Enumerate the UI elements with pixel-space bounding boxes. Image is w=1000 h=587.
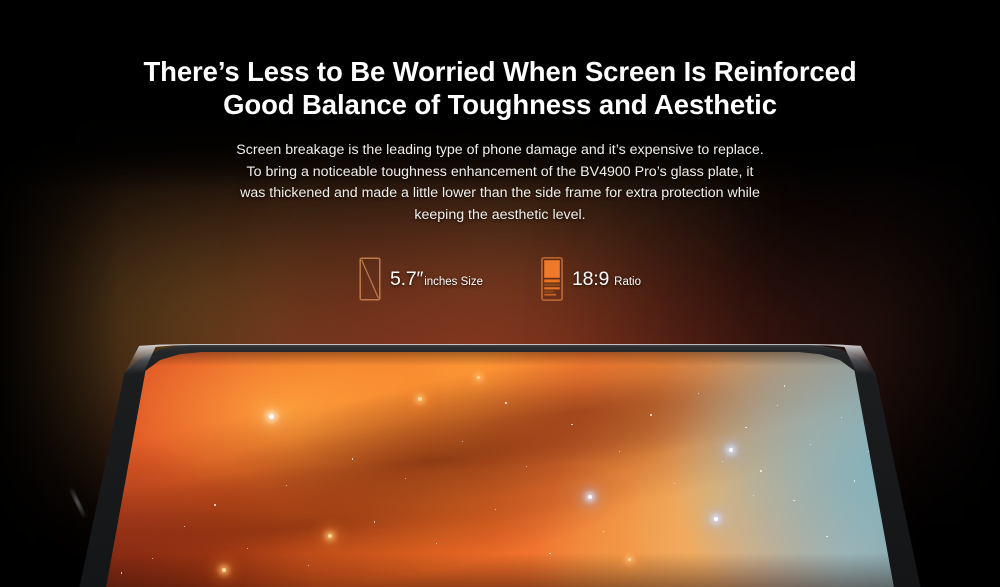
copy-block: There’s Less to Be Worried When Screen I… xyxy=(0,0,1000,301)
star xyxy=(729,448,733,452)
star xyxy=(477,376,480,379)
phone-screen xyxy=(42,344,958,587)
star xyxy=(214,504,215,505)
star xyxy=(526,466,527,467)
star xyxy=(714,517,718,521)
spec-aspect-ratio: 18:9Ratio xyxy=(541,257,641,301)
phone-device xyxy=(0,342,1000,587)
star xyxy=(650,414,651,415)
star xyxy=(753,495,754,496)
spec-aspect-ratio-value: 18:9 xyxy=(572,268,609,290)
star xyxy=(436,543,437,544)
headline-line-2: Good Balance of Toughness and Aesthetic xyxy=(0,88,1000,121)
star xyxy=(352,458,353,459)
star xyxy=(810,444,812,446)
star xyxy=(121,572,122,573)
star xyxy=(588,495,592,499)
star xyxy=(549,553,550,554)
page-title: There’s Less to Be Worried When Screen I… xyxy=(0,0,1000,121)
star xyxy=(308,565,309,566)
star xyxy=(505,402,506,403)
spec-screen-size-value: 5.7″ xyxy=(390,268,423,290)
star xyxy=(722,461,723,462)
star xyxy=(418,397,422,401)
headline-line-1: There’s Less to Be Worried When Screen I… xyxy=(143,56,856,87)
spec-screen-size-unit: inches Size xyxy=(424,276,483,288)
star xyxy=(247,548,248,549)
phone-ratio-icon xyxy=(541,257,563,301)
spec-aspect-ratio-label: 18:9Ratio xyxy=(572,268,641,291)
paragraph-line-4: keeping the aesthetic level. xyxy=(0,205,1000,227)
spec-aspect-ratio-unit: Ratio xyxy=(614,276,641,288)
star xyxy=(286,485,287,486)
star xyxy=(328,534,332,538)
star xyxy=(841,417,843,419)
star xyxy=(462,441,463,442)
star xyxy=(793,500,795,502)
star xyxy=(269,414,274,419)
spec-badge-row: 5.7″inches Size 18:9Ratio xyxy=(0,257,1000,301)
star xyxy=(826,536,828,538)
star xyxy=(745,427,747,429)
spec-screen-size: 5.7″inches Size xyxy=(359,257,483,301)
star xyxy=(571,424,572,425)
star xyxy=(495,509,496,510)
star xyxy=(603,531,604,532)
wallpaper-starfield xyxy=(42,344,958,587)
star xyxy=(628,558,631,561)
star xyxy=(784,385,785,386)
spec-screen-size-label: 5.7″inches Size xyxy=(390,268,483,291)
paragraph-line-1: Screen breakage is the leading type of p… xyxy=(0,140,1000,162)
star xyxy=(760,470,762,472)
paragraph-line-3: was thickened and made a little lower th… xyxy=(0,183,1000,205)
promo-banner: There’s Less to Be Worried When Screen I… xyxy=(0,0,1000,587)
star xyxy=(222,568,226,572)
star xyxy=(152,558,153,559)
star xyxy=(777,405,779,407)
star xyxy=(698,393,700,395)
paragraph-line-2: To bring a noticeable toughness enhancem… xyxy=(0,162,1000,184)
description-paragraph: Screen breakage is the leading type of p… xyxy=(0,140,1000,226)
star xyxy=(405,478,406,479)
earpiece-speaker-icon xyxy=(68,486,86,518)
star xyxy=(854,480,856,482)
star xyxy=(674,483,675,484)
star xyxy=(374,521,375,522)
star xyxy=(184,526,185,527)
star xyxy=(619,451,620,452)
screen-diagonal-icon xyxy=(359,257,381,301)
